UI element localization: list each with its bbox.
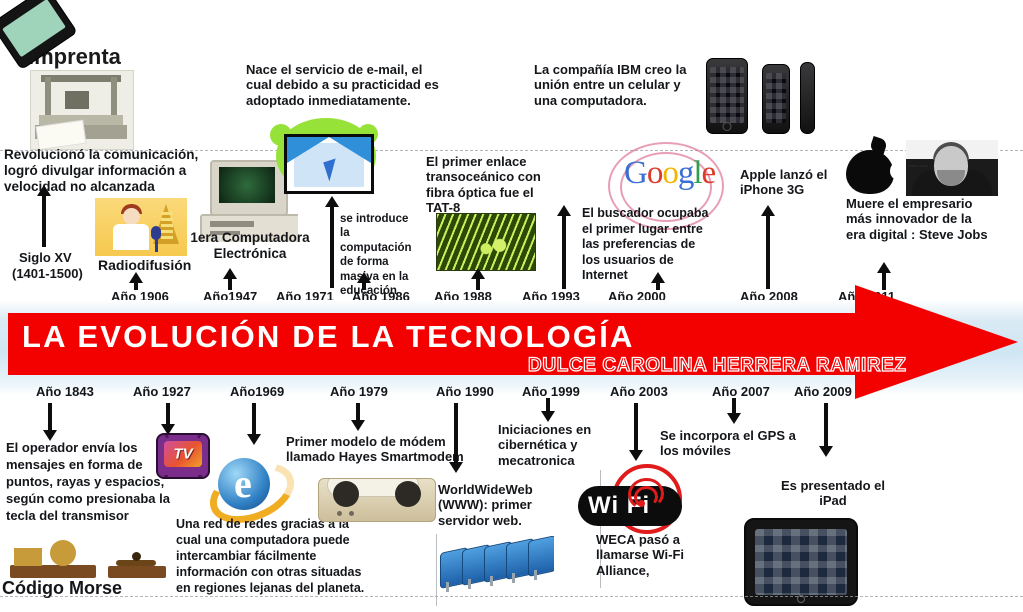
steve-jobs-portrait-image: Steve Jobs (906, 140, 998, 196)
apple-logo (846, 140, 900, 198)
iphone-side-image (800, 62, 815, 134)
banner-arrowhead (855, 285, 1018, 399)
www-year: Año 1990 (436, 384, 494, 399)
computacion-educacion-arrow-icon (356, 272, 372, 290)
wifi-year: Año 2003 (610, 384, 668, 399)
bottom-dashed-guide (0, 596, 1023, 597)
server-stack-image (438, 536, 554, 598)
gps-description: Se incorpora el GPS a los móviles (660, 428, 806, 459)
telegraph-key-image (4, 520, 174, 586)
television-arrow-icon (160, 403, 176, 435)
radiodifusion-arrow-icon (128, 272, 144, 290)
steve-jobs-description: Muere el empresario más innovador de la … (846, 196, 988, 242)
computacion-educacion-description: se introduce la computación de forma mas… (340, 212, 418, 298)
infographic-canvas: Imprenta Revolucionó la comunicación, lo… (0, 0, 1023, 612)
ipad-arrow-icon (818, 403, 834, 457)
fiber-optic-image (436, 213, 536, 271)
gps-year: Año 2007 (712, 384, 770, 399)
morse-year: Año 1843 (36, 384, 94, 399)
title-banner: LA EVOLUCIÓN DE LA TECNOLOGÍA DULCE CARO… (0, 307, 1023, 387)
radio-broadcast-image (95, 198, 187, 256)
arpanet-arrow-icon (246, 403, 262, 445)
primera-computadora-caption: 1era Computadora Electrónica (188, 230, 312, 262)
www-arrow-icon (448, 403, 464, 473)
gps-arrow-icon (726, 398, 742, 424)
google-arrow-icon (650, 272, 666, 290)
modem-arrow-icon (350, 403, 366, 431)
acoustic-modem-image (318, 478, 436, 522)
google-logo: Google (624, 155, 715, 192)
cibernetica-arrow-icon (540, 398, 556, 422)
ipad-image (744, 518, 858, 606)
arpanet-description: Una red de redes gracias a la cual una c… (176, 516, 368, 596)
iphone-description: Apple lanzó el iPhone 3G (740, 167, 858, 198)
page-title: LA EVOLUCIÓN DE LA TECNOLOGÍA (22, 319, 635, 355)
arpanet-year: Año1969 (230, 384, 284, 399)
ipad-year: Año 2009 (794, 384, 852, 399)
email-description: Nace el servicio de e-mail, el cual debi… (246, 62, 442, 108)
wifi-description: WECA pasó a llamarse Wi-Fi Alliance, (596, 532, 690, 578)
cibernetica-year: Año 1999 (522, 384, 580, 399)
imprenta-year: Siglo XV (19, 250, 72, 265)
iphone-front-image (706, 58, 748, 134)
google-description: El buscador ocupaba el primer lugar entr… (582, 206, 710, 284)
email-arrow-icon (324, 196, 340, 288)
imprenta-arrow-icon (36, 185, 52, 247)
wifi-logo: Wi Fi (578, 460, 688, 532)
primera-computadora-arrow-icon (222, 268, 238, 290)
internet-explorer-logo: e (208, 448, 284, 520)
tat8-arrow-icon (470, 268, 486, 290)
radiodifusion-caption: Radiodifusión (98, 257, 191, 273)
morse-description: El operador envía los mensajes en forma … (6, 440, 178, 524)
iphone-arrow-icon (760, 205, 776, 289)
television-year: Año 1927 (133, 384, 191, 399)
wifi-arrow-icon (628, 403, 644, 461)
ibm-celular-arrow-icon (556, 205, 572, 289)
printing-press-image (30, 70, 134, 150)
iphone-angled-image (762, 64, 790, 134)
www-description: WorldWideWeb (WWW): primer servidor web. (438, 482, 554, 528)
television-image: TV (156, 433, 210, 479)
ibm-celular-description: La compañía IBM creo la unión entre un c… (534, 62, 694, 108)
tat8-description: El primer enlace transoceánico con fibra… (426, 154, 546, 215)
author-name: DULCE CAROLINA HERRERA RAMIREZ (528, 355, 907, 377)
modem-year: Año 1979 (330, 384, 388, 399)
ipad-description: Es presentado el iPad (778, 478, 888, 509)
imprenta-year-range: (1401-1500) (12, 266, 83, 281)
morse-arrow-icon (42, 403, 58, 441)
